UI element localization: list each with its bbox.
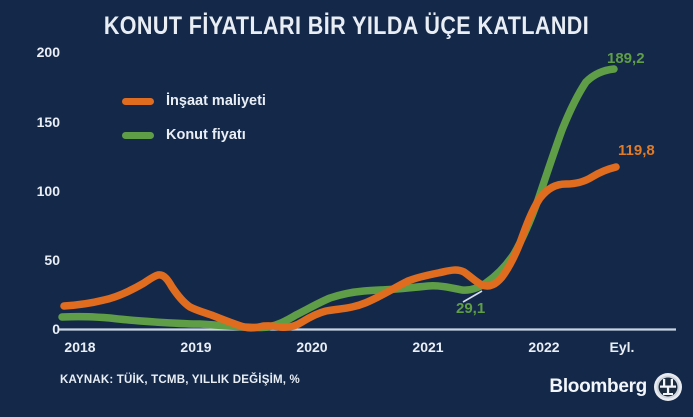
- y-axis-tick-0: 0: [8, 321, 60, 337]
- data-label-insaat-end: 119,8: [618, 142, 655, 159]
- legend-swatch-icon-green: [122, 132, 154, 139]
- series-line-insaat-maliyeti: [64, 167, 616, 328]
- ht-logo-icon: [653, 372, 683, 402]
- x-axis-tick-2020: 2020: [296, 339, 327, 355]
- y-axis-tick-100: 100: [8, 183, 60, 199]
- legend-item-insaat-maliyeti[interactable]: İnşaat maliyeti: [122, 88, 266, 114]
- x-axis-tick-eylul: Eyl.: [610, 339, 635, 355]
- source-note: KAYNAK: TÜİK, TCMB, YILLIK DEĞİŞİM, %: [60, 374, 300, 386]
- plot-area: 200 150 100 50 0 2018 2019 2020 2021 202…: [0, 0, 693, 417]
- legend-label-insaat-maliyeti: İnşaat maliyeti: [166, 93, 266, 109]
- data-label-konut-end: 189,2: [607, 50, 645, 67]
- chart-canvas: KONUT FİYATLARI BİR YILDA ÜÇE KATLANDI 2…: [0, 0, 693, 417]
- x-axis-tick-2021: 2021: [412, 339, 443, 355]
- x-axis-tick-2022: 2022: [528, 339, 559, 355]
- chart-svg: [0, 0, 693, 417]
- legend-item-konut-fiyati[interactable]: Konut fiyatı: [122, 122, 266, 148]
- x-axis-tick-2019: 2019: [180, 339, 211, 355]
- legend-label-konut-fiyati: Konut fiyatı: [166, 127, 246, 143]
- chart-legend: İnşaat maliyeti Konut fiyatı: [122, 88, 266, 148]
- y-axis-tick-50: 50: [8, 252, 60, 268]
- legend-swatch-icon-orange: [122, 98, 154, 105]
- brand-label: Bloomberg: [549, 376, 647, 398]
- y-axis-tick-150: 150: [8, 114, 60, 130]
- x-axis-tick-2018: 2018: [64, 339, 95, 355]
- brand-block: Bloomberg: [549, 372, 683, 402]
- y-axis-tick-200: 200: [8, 44, 60, 60]
- data-label-konut-mid: 29,1: [456, 300, 485, 317]
